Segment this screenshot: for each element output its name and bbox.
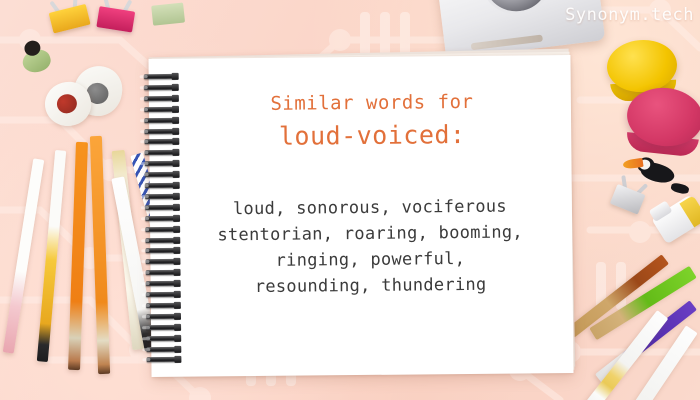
spiral-ring <box>145 248 178 253</box>
spiral-ring <box>144 161 177 166</box>
spiral-ring <box>144 117 177 122</box>
spiral-ring <box>146 303 179 308</box>
spiral-ring <box>145 216 178 221</box>
notepad-content: Similar words for loud-voiced: loud, son… <box>149 89 573 301</box>
spiral-ring <box>144 96 177 101</box>
spiral-ring <box>146 281 179 286</box>
spiral-binding <box>144 60 189 370</box>
binder-clip-pink-icon <box>96 1 138 35</box>
spiral-ring <box>146 357 179 362</box>
spiral-ring <box>146 335 179 340</box>
spiral-ring <box>144 150 177 155</box>
binder-clip-green-icon <box>151 0 188 28</box>
spiral-ring <box>145 226 178 231</box>
spiral-ring <box>144 107 177 112</box>
spiral-ring <box>145 194 178 199</box>
spiral-ring <box>144 139 177 144</box>
spiral-ring <box>145 183 178 188</box>
macaron-pink-icon <box>624 84 700 150</box>
kicker-text: Similar words for <box>183 89 561 117</box>
screenshot-stage: Similar words for loud-voiced: loud, son… <box>0 0 700 400</box>
spiral-ring <box>145 259 178 264</box>
spiral-ring <box>146 314 179 319</box>
spiral-ring <box>145 205 178 210</box>
brand-watermark: Synonym.tech <box>565 5 694 25</box>
spiral-ring <box>145 237 178 242</box>
spiral-ring <box>144 74 177 79</box>
notepad: Similar words for loud-voiced: loud, son… <box>148 55 573 377</box>
spiral-ring <box>144 85 177 90</box>
spiral-ring <box>144 128 177 133</box>
synonyms-list: loud, sonorous, vociferous stentorian, r… <box>184 193 563 301</box>
spiral-ring <box>146 270 179 275</box>
spiral-ring <box>146 346 179 351</box>
page-title: loud-voiced: <box>183 117 561 155</box>
spiral-ring <box>146 325 179 330</box>
spiral-ring <box>146 292 179 297</box>
spiral-ring <box>145 172 178 177</box>
